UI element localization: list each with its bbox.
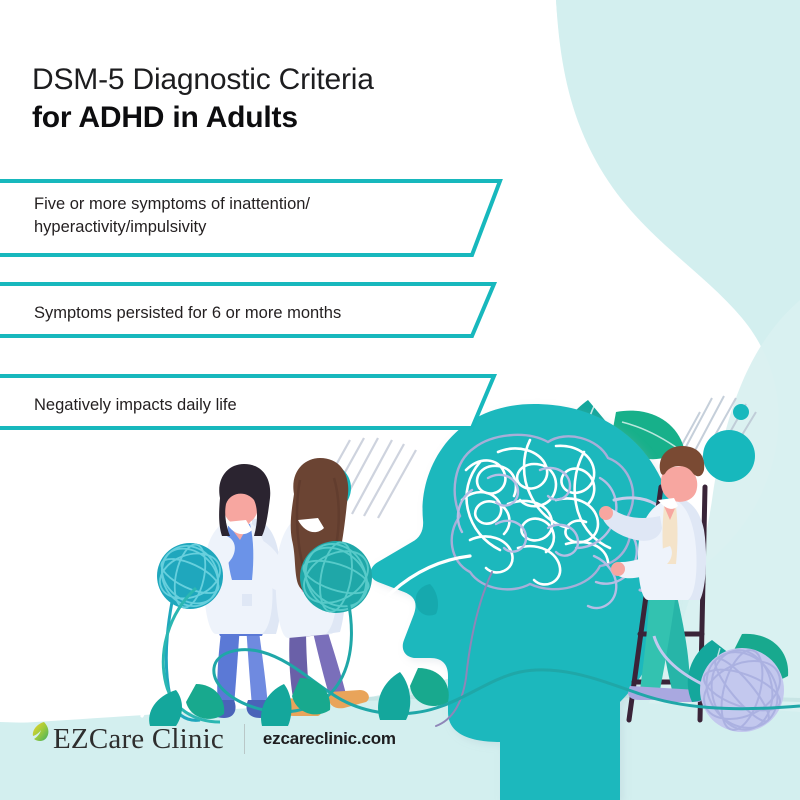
brand-logo[interactable]: EZCare Clinic	[30, 725, 224, 754]
criterion-duration: Symptoms persisted for 6 or more months	[0, 281, 520, 347]
criterion-symptom-count: Five or more symptoms of inattention/ hy…	[0, 178, 520, 255]
criterion-text: Five or more symptoms of inattention/ hy…	[0, 178, 520, 255]
decoration-circle-small-right	[733, 404, 749, 420]
leaf-icon	[30, 721, 52, 747]
criterion-impairment: Negatively impacts daily life	[0, 373, 520, 439]
title-line-2: for ADHD in Adults	[32, 99, 552, 137]
decoration-circle-large-right	[703, 430, 755, 482]
infographic-canvas: DSM-5 Diagnostic Criteria for ADHD in Ad…	[0, 0, 800, 800]
criterion-text: Negatively impacts daily life	[0, 373, 520, 439]
website-url[interactable]: ezcareclinic.com	[263, 729, 396, 749]
brand-name: EZCare Clinic	[53, 725, 224, 754]
page-title: DSM-5 Diagnostic Criteria for ADHD in Ad…	[32, 62, 552, 137]
criteria-list: Five or more symptoms of inattention/ hy…	[0, 178, 520, 465]
footer: EZCare Clinic ezcareclinic.com	[30, 724, 396, 754]
footer-divider	[244, 724, 245, 754]
title-line-1: DSM-5 Diagnostic Criteria	[32, 62, 552, 97]
criterion-text: Symptoms persisted for 6 or more months	[0, 281, 520, 347]
